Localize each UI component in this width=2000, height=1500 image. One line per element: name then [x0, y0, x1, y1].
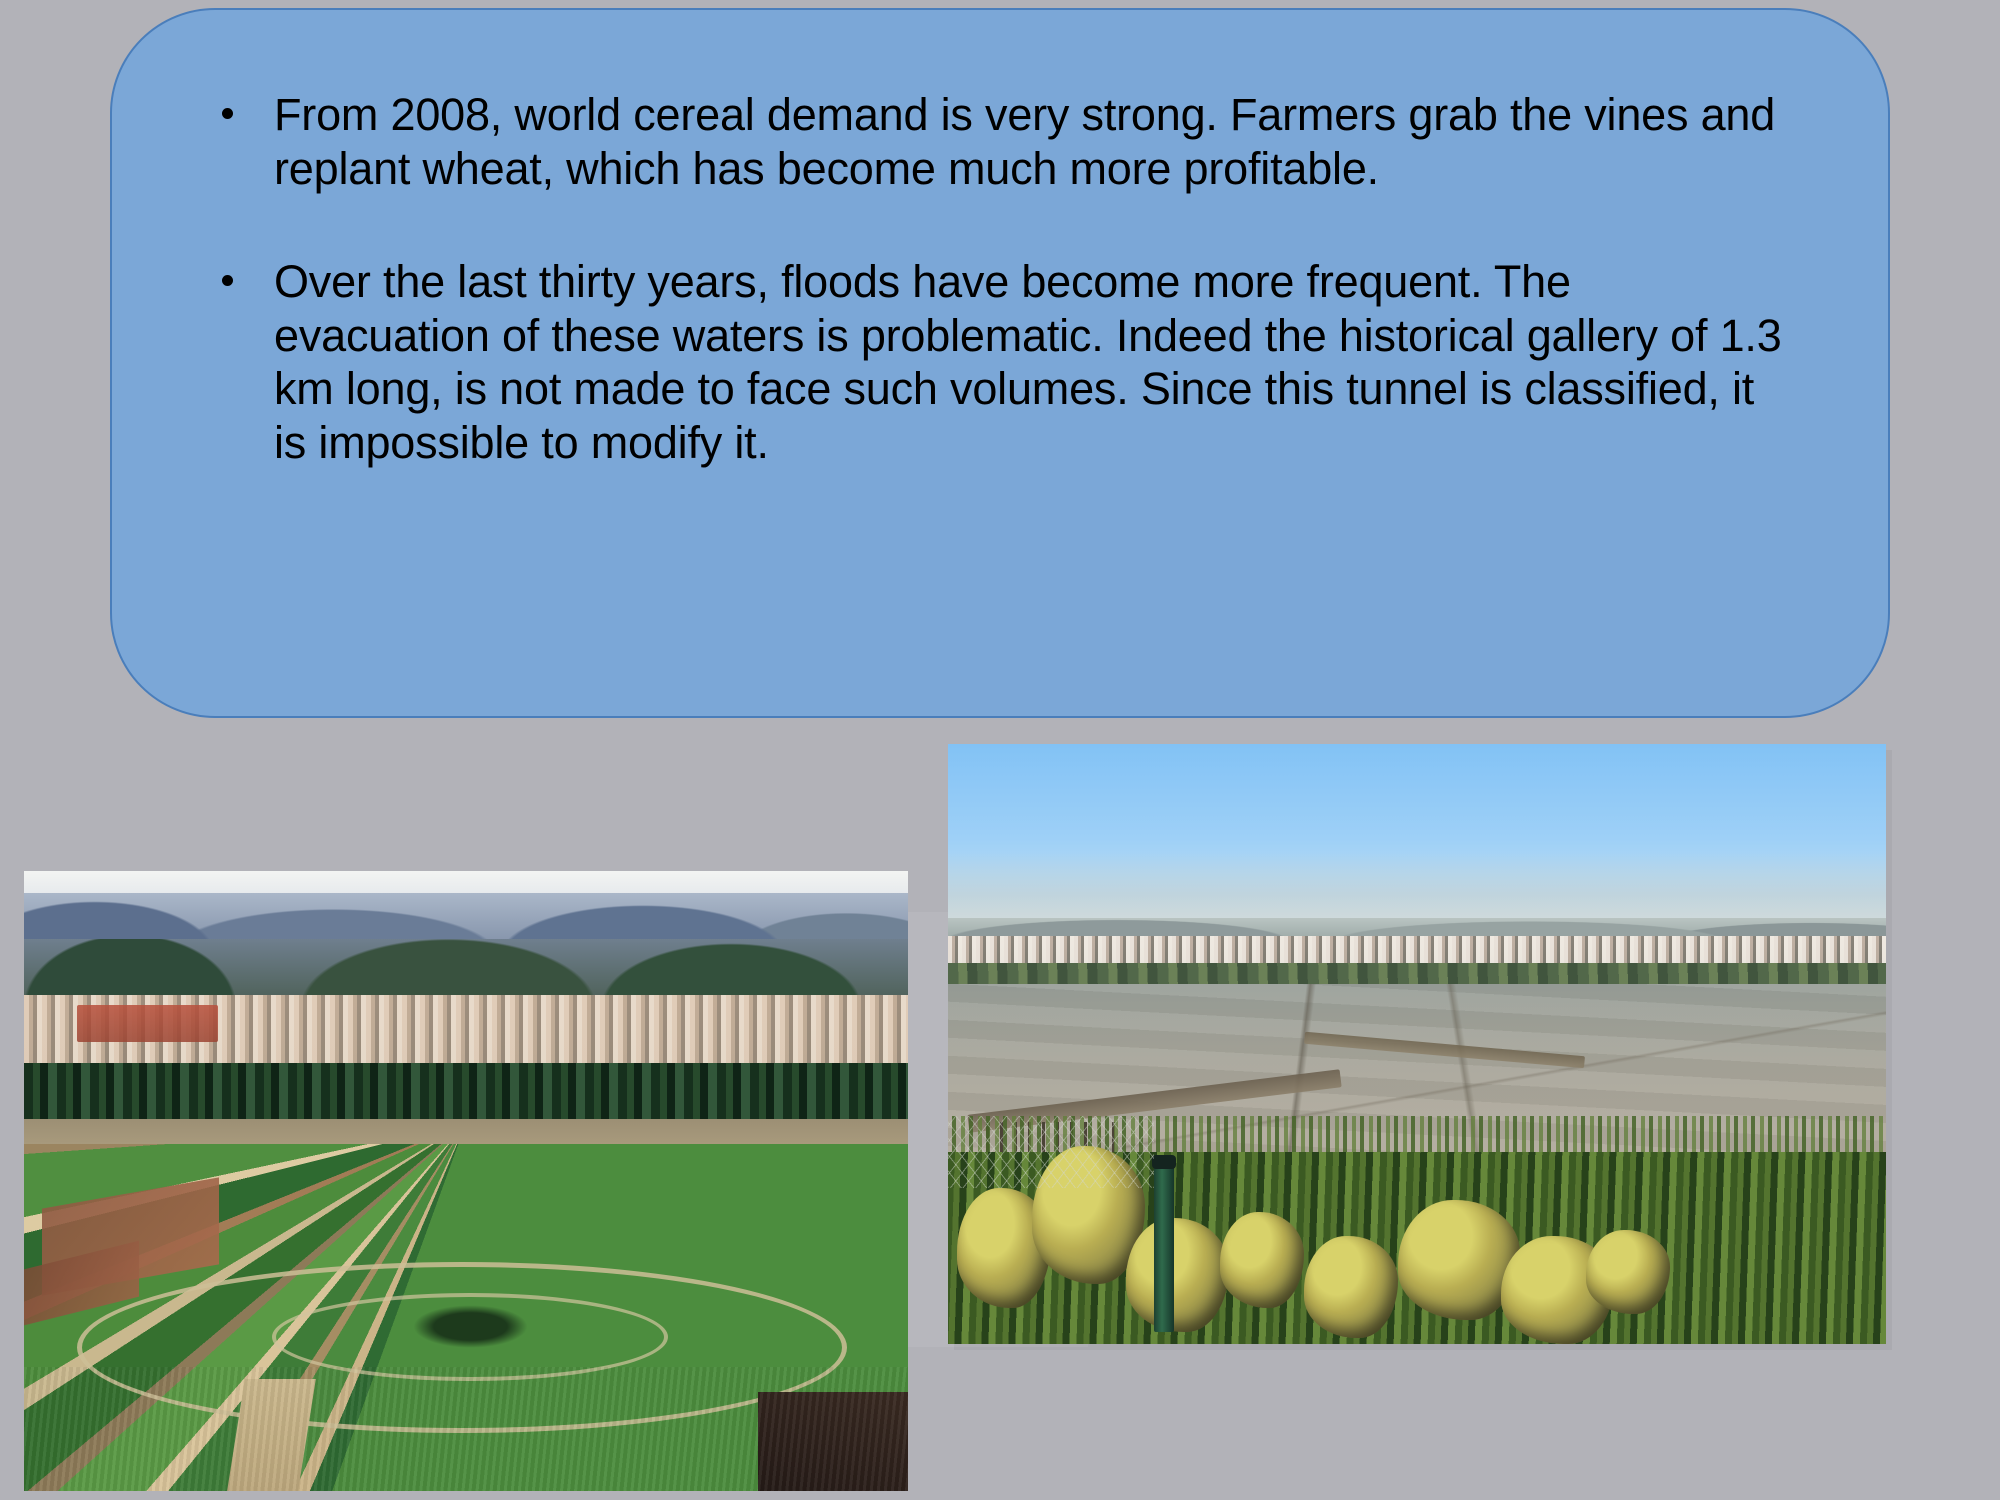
list-item: Over the last thirty years, floods have …	[194, 255, 1796, 469]
bullet-list: From 2008, world cereal demand is very s…	[194, 88, 1796, 469]
flood-photo-content	[948, 744, 1886, 1344]
aerial-photo-content	[24, 871, 908, 1491]
lichen-rock	[1586, 1230, 1670, 1314]
bullet-dot-icon	[222, 108, 233, 119]
lichen-rock	[1126, 1218, 1229, 1332]
list-item: From 2008, world cereal demand is very s…	[194, 88, 1796, 195]
slide-canvas: From 2008, world cereal demand is very s…	[0, 0, 2000, 1500]
bullet-dot-icon	[222, 275, 233, 286]
lichen-rock	[1304, 1236, 1398, 1338]
aerial-radial-fields-photo	[24, 871, 908, 1491]
wire-fence	[948, 1116, 1154, 1188]
distant-town-band	[948, 936, 1886, 966]
field-center-trees	[413, 1305, 528, 1348]
flooded-plain-photo	[948, 744, 1886, 1344]
bullet-text: From 2008, world cereal demand is very s…	[274, 89, 1775, 194]
green-fence-post	[1154, 1164, 1174, 1332]
text-callout-box: From 2008, world cereal demand is very s…	[110, 8, 1890, 718]
haze-band	[948, 852, 1886, 924]
lichen-rock	[1220, 1212, 1304, 1308]
bullet-text: Over the last thirty years, floods have …	[274, 256, 1782, 468]
crop-row-texture	[24, 1367, 908, 1491]
